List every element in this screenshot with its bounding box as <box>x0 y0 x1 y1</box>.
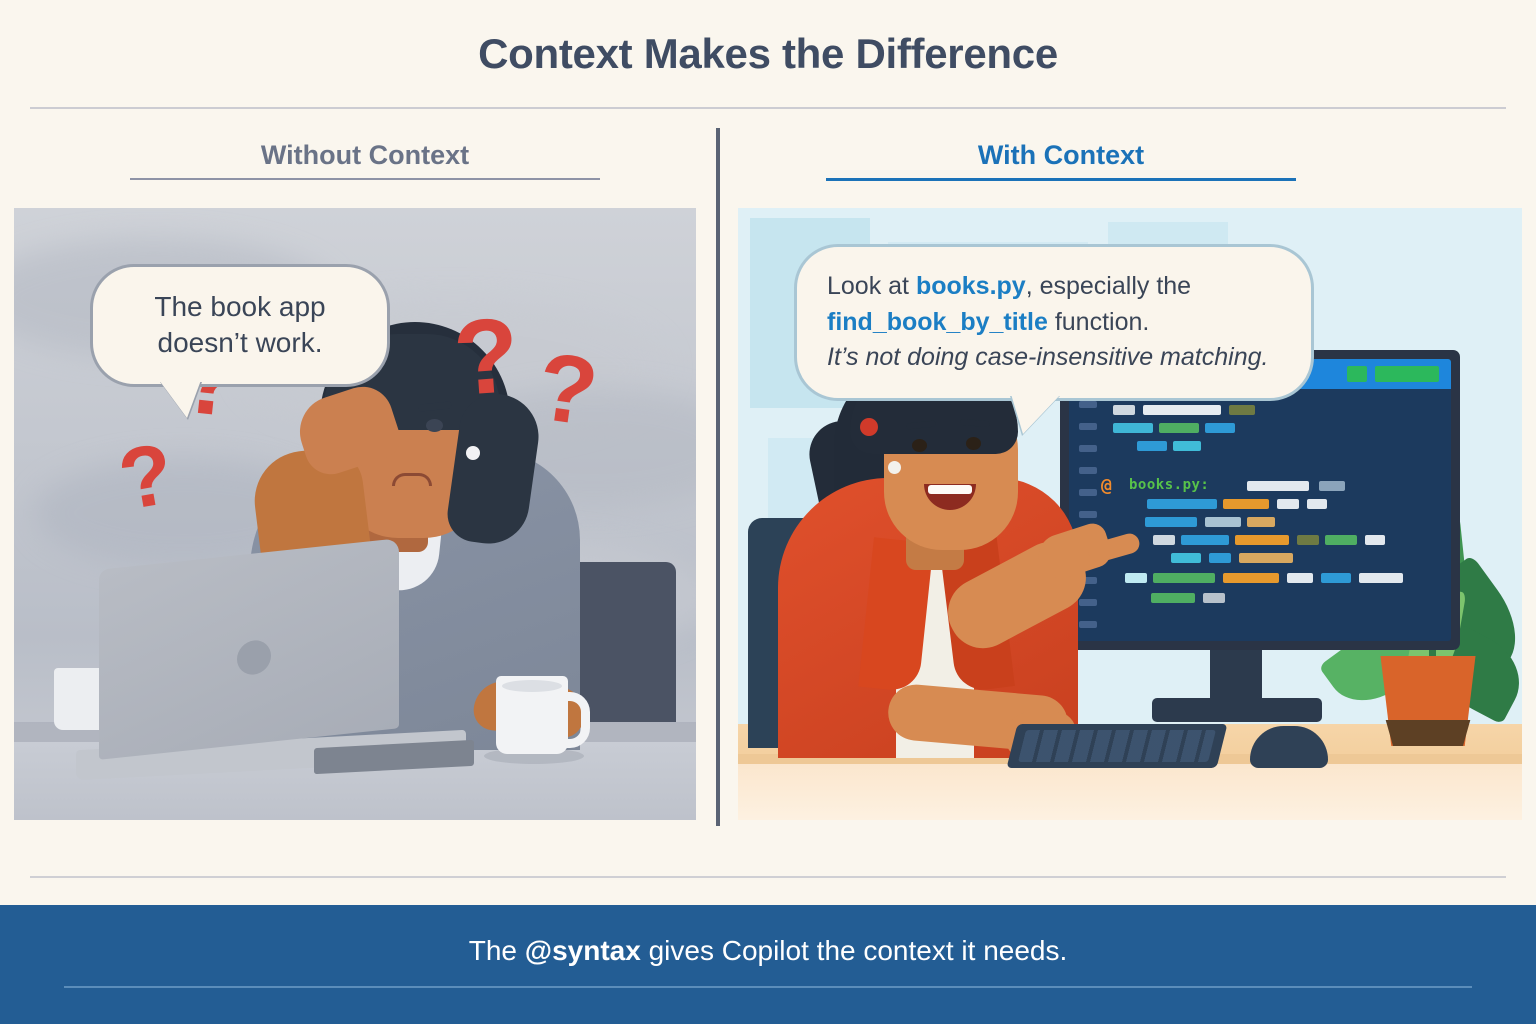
code-token <box>1229 405 1255 415</box>
code-token <box>1113 405 1135 415</box>
code-token <box>1209 553 1231 563</box>
code-token <box>1247 517 1275 527</box>
bubble-line-2: find_book_by_title function. <box>827 305 1281 341</box>
question-mark-icon: ? <box>450 302 522 412</box>
scene-frustrated-developer: ? ? ? ? The book app doesn’t work. <box>14 208 696 820</box>
laptop-lid <box>99 538 399 760</box>
code-ref-books-py: books.py <box>916 272 1026 300</box>
footer-text-post: gives Copilot the context it needs. <box>641 935 1067 966</box>
code-token <box>1145 517 1197 527</box>
code-token <box>1223 499 1269 509</box>
speech-bubble-without-context: The book app doesn’t work. <box>90 264 390 387</box>
earring <box>888 461 901 474</box>
frowning-mouth <box>392 473 432 486</box>
code-token <box>1205 423 1235 433</box>
code-token <box>1159 423 1199 433</box>
panel-without-context: ? ? ? ? The book app doesn’t work. <box>14 208 696 820</box>
panel-with-context: @ books.py: <box>738 208 1522 820</box>
code-token <box>1113 423 1153 433</box>
code-token <box>1365 535 1385 545</box>
footer-divider <box>30 876 1506 878</box>
code-token <box>1247 481 1309 491</box>
footer-text-pre: The <box>469 935 525 966</box>
teeth <box>928 485 972 494</box>
status-badge <box>1375 366 1439 382</box>
earring <box>466 446 480 460</box>
code-token <box>1143 405 1221 415</box>
header-divider <box>30 107 1506 109</box>
bubble-text-pre: Look at <box>827 272 916 300</box>
code-token <box>1325 535 1357 545</box>
code-token <box>1321 573 1351 583</box>
column-header-with-context: With Context <box>826 140 1296 181</box>
code-token <box>1203 593 1225 603</box>
code-token <box>1297 535 1319 545</box>
code-token <box>1307 499 1327 509</box>
code-file-reference: books.py: <box>1129 477 1209 493</box>
monitor-screen: @ books.py: <box>1069 359 1451 641</box>
code-token <box>1147 499 1217 509</box>
keyboard <box>1007 724 1228 768</box>
coffee-mug-large <box>496 676 568 754</box>
code-token <box>1239 553 1293 563</box>
code-token <box>1171 553 1201 563</box>
panel-divider <box>716 128 720 826</box>
code-token <box>1137 441 1167 451</box>
page-title: Context Makes the Difference <box>0 30 1536 78</box>
eye <box>426 419 443 432</box>
code-token <box>1151 593 1195 603</box>
code-token <box>1235 535 1289 545</box>
code-token <box>1359 573 1403 583</box>
scene-confident-developer: @ books.py: <box>738 208 1522 820</box>
eye <box>966 437 981 450</box>
footer-text-syntax: @syntax <box>525 935 641 966</box>
bubble-line-1: Look at books.py, especially the <box>827 269 1281 305</box>
code-token <box>1181 535 1229 545</box>
status-badge <box>1347 366 1367 382</box>
eye <box>912 439 927 452</box>
column-header-without-context: Without Context <box>130 140 600 180</box>
footer-banner: The @syntax gives Copilot the context it… <box>0 905 1536 1024</box>
code-token <box>1319 481 1345 491</box>
code-token <box>1287 573 1313 583</box>
bubble-line-2: doesn’t work. <box>123 325 357 361</box>
code-token <box>1205 517 1241 527</box>
footer-underline <box>64 986 1472 988</box>
monitor-stand <box>1210 644 1262 702</box>
bubble-tail <box>159 380 201 418</box>
code-ref-find-book-by-title: find_book_by_title <box>827 308 1048 336</box>
code-token <box>1223 573 1279 583</box>
hair-tie <box>860 418 878 436</box>
plant-pot-base <box>1382 720 1474 746</box>
code-token <box>1153 535 1175 545</box>
footer-caption: The @syntax gives Copilot the context it… <box>0 935 1536 967</box>
bubble-line-3: It’s not doing case-insensitive matching… <box>827 340 1281 376</box>
laptop-logo-icon <box>237 639 271 677</box>
code-token <box>1125 573 1147 583</box>
code-token <box>1277 499 1299 509</box>
speech-bubble-with-context: Look at books.py, especially the find_bo… <box>794 244 1314 401</box>
bubble-tail <box>1011 394 1061 434</box>
code-token <box>1173 441 1201 451</box>
code-token <box>1153 573 1215 583</box>
bubble-text-post: , especially the <box>1026 272 1191 300</box>
editor-line-numbers <box>1079 401 1097 641</box>
bubble-text-function: function. <box>1048 308 1149 336</box>
bubble-line-1: The book app <box>123 289 357 325</box>
at-symbol-icon: @ <box>1101 475 1112 496</box>
